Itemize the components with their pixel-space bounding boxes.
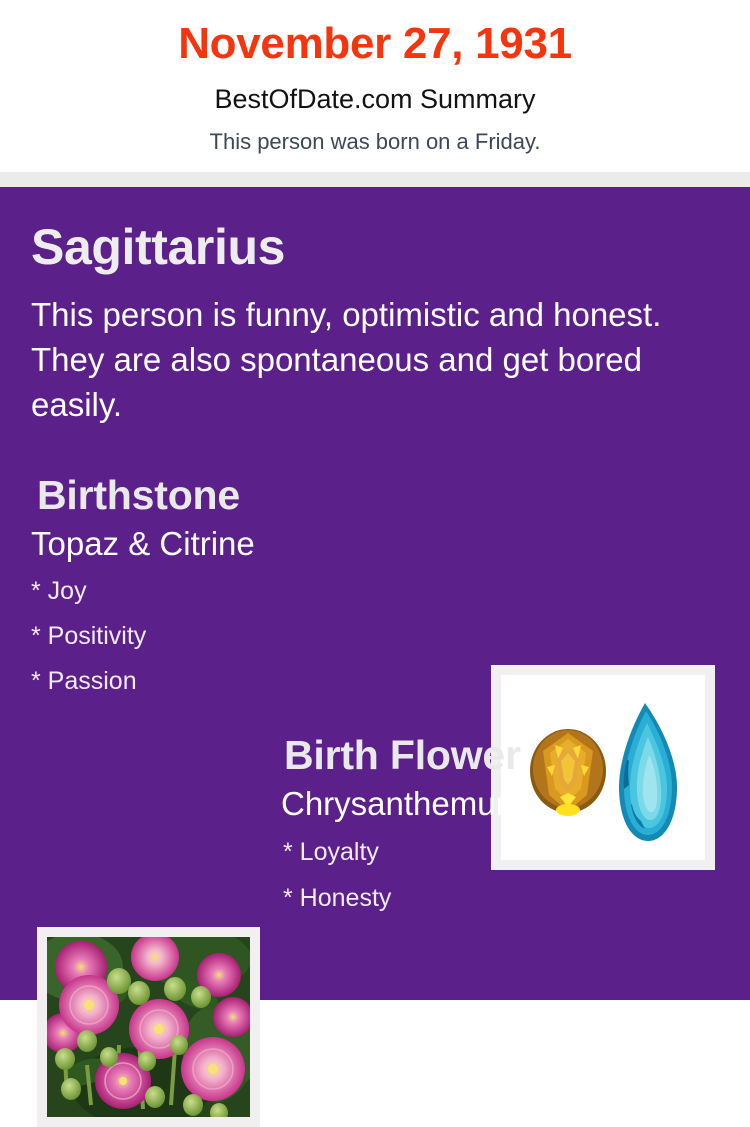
list-item: * Joy <box>31 579 146 604</box>
birth-flower-image <box>47 937 250 1117</box>
page-title: November 27, 1931 <box>0 22 750 66</box>
birth-flower-image-frame <box>37 927 260 1127</box>
chrysanthemum-illustration <box>47 937 250 1117</box>
zodiac-description: This person is funny, optimistic and hon… <box>31 293 723 428</box>
date-summary-page: November 27, 1931 BestOfDate.com Summary… <box>0 0 750 1000</box>
zodiac-sign-name: Sagittarius <box>31 222 285 272</box>
birthstone-name: Topaz & Citrine <box>31 527 255 560</box>
birthstone-trait-list: * Joy * Positivity * Passion <box>31 579 146 714</box>
birthstone-image <box>501 675 705 860</box>
page-header: November 27, 1931 BestOfDate.com Summary… <box>0 0 750 172</box>
gemstone-illustration <box>501 675 705 860</box>
list-item: * Positivity <box>31 624 146 649</box>
header-divider <box>0 172 750 187</box>
site-summary-label: BestOfDate.com Summary <box>0 66 750 113</box>
list-item: * Passion <box>31 669 146 694</box>
birth-flower-heading: Birth Flower <box>284 735 521 776</box>
zodiac-panel: Sagittarius This person is funny, optimi… <box>0 187 750 1000</box>
born-day-note: This person was born on a Friday. <box>0 113 750 153</box>
birthstone-image-frame <box>491 665 715 870</box>
birth-flower-name: Chrysanthemum <box>281 787 523 820</box>
birthstone-heading: Birthstone <box>37 475 240 516</box>
birth-flower-trait-list: * Loyalty * Honesty <box>283 840 391 932</box>
list-item: * Honesty <box>283 886 391 911</box>
list-item: * Loyalty <box>283 840 391 865</box>
